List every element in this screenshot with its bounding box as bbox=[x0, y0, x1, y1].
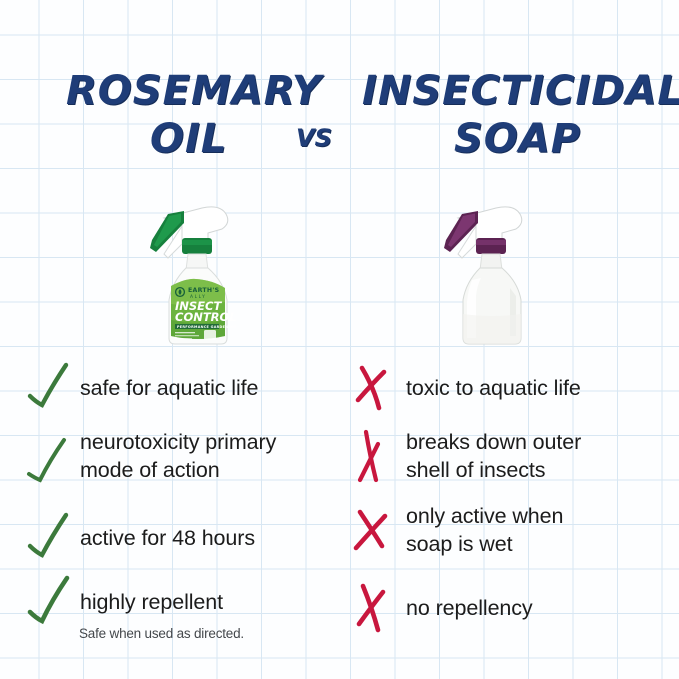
list-item-label: highly repellent bbox=[80, 588, 223, 616]
title-versus: VS bbox=[296, 124, 332, 152]
list-item-label: active for 48 hours bbox=[80, 524, 255, 552]
cross-icon bbox=[352, 580, 406, 636]
title-right-line-2: SOAP bbox=[454, 116, 581, 162]
cross-icon bbox=[352, 428, 406, 484]
list-item: only active when soap is wet bbox=[352, 502, 563, 559]
list-item-label: safe for aquatic life bbox=[80, 374, 258, 402]
cross-icon bbox=[352, 502, 406, 558]
rosemary-oil-spray-bottle: EARTH'S ALLY INSECT CONTROL PERFORMANCE … bbox=[138, 196, 258, 346]
list-item-label: no repellency bbox=[406, 594, 533, 622]
title-right-line-1: INSECTICIDAL bbox=[362, 68, 679, 114]
cross-icon bbox=[352, 360, 406, 416]
list-item-label: toxic to aquatic life bbox=[406, 374, 581, 402]
list-item: neurotoxicity primary mode of action bbox=[26, 428, 276, 485]
comparison-infographic: ROSEMARY OIL VS INSECTICIDAL SOAP bbox=[0, 0, 679, 679]
list-item: active for 48 hours bbox=[26, 510, 255, 566]
list-item-label: breaks down outer shell of insects bbox=[406, 428, 581, 485]
list-item: highly repellent bbox=[26, 574, 223, 630]
check-icon bbox=[26, 360, 80, 416]
list-item-label: only active when soap is wet bbox=[406, 502, 563, 559]
check-icon bbox=[26, 428, 80, 484]
check-icon bbox=[26, 574, 80, 630]
list-item-label: neurotoxicity primary mode of action bbox=[80, 428, 276, 485]
list-item: breaks down outer shell of insects bbox=[352, 428, 581, 485]
list-item: toxic to aquatic life bbox=[352, 360, 581, 416]
insecticidal-soap-spray-bottle bbox=[432, 196, 552, 346]
title-block: ROSEMARY OIL VS INSECTICIDAL SOAP bbox=[0, 62, 679, 172]
list-item: safe for aquatic life bbox=[26, 360, 258, 416]
svg-text:EARTH'S: EARTH'S bbox=[188, 287, 219, 294]
check-icon bbox=[26, 510, 80, 566]
list-item: no repellency bbox=[352, 580, 533, 636]
footnote-disclaimer: Safe when used as directed. bbox=[79, 626, 244, 641]
svg-text:CONTROL: CONTROL bbox=[175, 310, 237, 324]
svg-text:PERFORMANCE GARDENING: PERFORMANCE GARDENING bbox=[177, 325, 236, 329]
title-left-line-1: ROSEMARY bbox=[66, 68, 322, 114]
title-left-line-2: OIL bbox=[150, 116, 227, 162]
